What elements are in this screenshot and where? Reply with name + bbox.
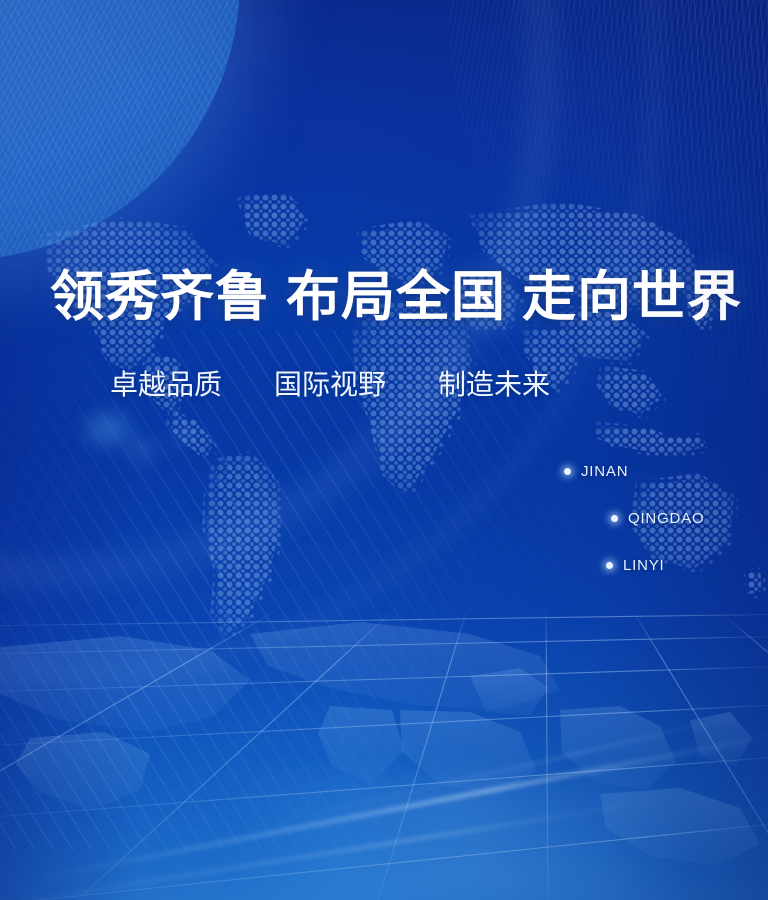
- bokeh-glow: [128, 440, 154, 460]
- city-label: JINAN: [581, 463, 628, 480]
- city-marker-qingdao[interactable]: QINGDAO: [611, 510, 704, 527]
- location-dot-icon: [611, 515, 618, 522]
- subheadline: 卓越品质国际视野制造未来: [110, 371, 550, 399]
- subheadline-part-2: 国际视野: [274, 368, 386, 401]
- city-label: QINGDAO: [628, 510, 704, 527]
- city-label: LINYI: [623, 557, 665, 574]
- headline-part-3: 走向世界: [522, 264, 742, 328]
- bokeh-glow: [86, 414, 130, 444]
- subheadline-part-1: 卓越品质: [110, 368, 222, 401]
- location-dot-icon: [564, 468, 571, 475]
- city-marker-jinan[interactable]: JINAN: [564, 463, 628, 480]
- headline: 领秀齐鲁布局全国走向世界: [50, 269, 742, 323]
- subheadline-part-3: 制造未来: [438, 368, 550, 401]
- headline-part-2: 布局全国: [286, 264, 506, 328]
- bokeh-glow: [168, 434, 186, 448]
- promo-banner: 领秀齐鲁布局全国走向世界 卓越品质国际视野制造未来 JINAN QINGDAO …: [0, 0, 768, 900]
- city-marker-linyi[interactable]: LINYI: [606, 557, 665, 574]
- location-dot-icon: [606, 562, 613, 569]
- headline-part-1: 领秀齐鲁: [50, 264, 270, 328]
